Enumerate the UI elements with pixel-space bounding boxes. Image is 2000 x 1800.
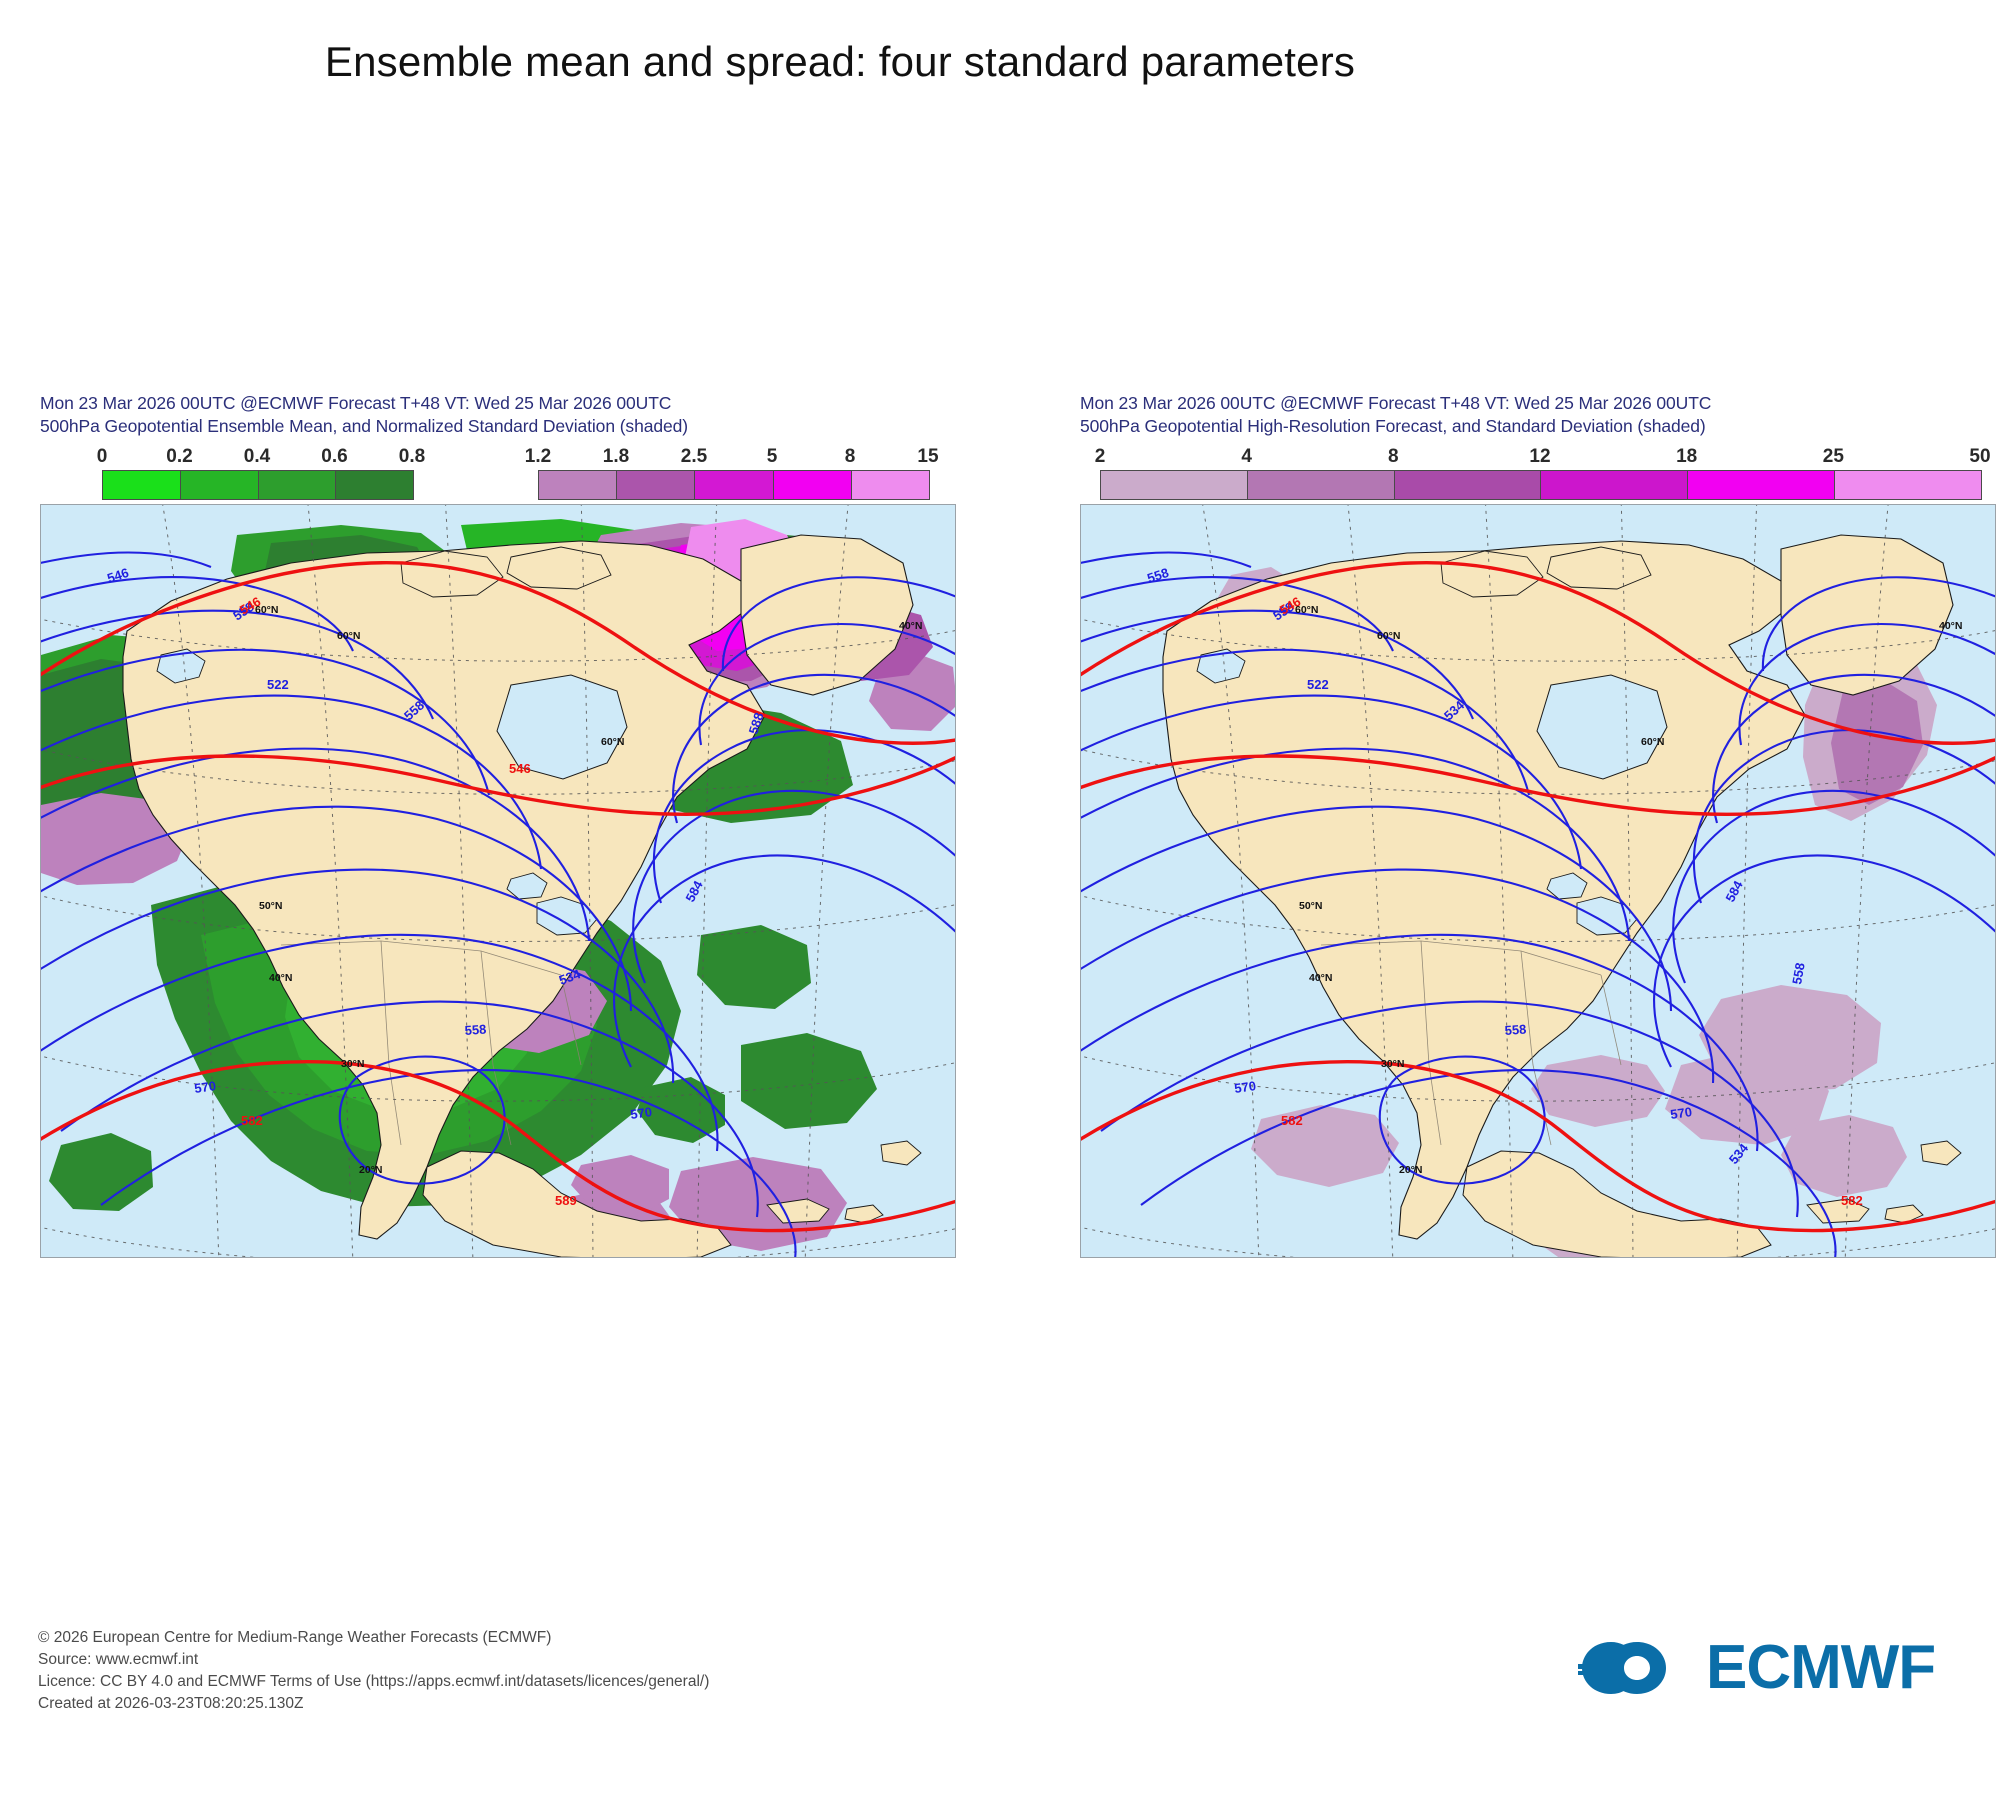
colorbar-swatch (1688, 471, 1835, 499)
footer-licence: Licence: CC BY 4.0 and ECMWF Terms of Us… (38, 1671, 709, 1693)
colorbar-tick: 0.4 (244, 446, 270, 468)
svg-text:60°N: 60°N (1377, 630, 1400, 642)
svg-text:582: 582 (1841, 1193, 1863, 1208)
panel-header-line2: 500hPa Geopotential High-Resolution Fore… (1080, 415, 2000, 438)
panel-header-line1: Mon 23 Mar 2026 00UTC @ECMWF Forecast T+… (1080, 392, 2000, 415)
colorbar-tick: 0.6 (321, 446, 347, 468)
svg-text:582: 582 (241, 1113, 263, 1128)
colorbar-tick: 8 (845, 446, 856, 468)
colorbar-tick: 2 (1095, 446, 1106, 468)
colorbar-swatch (103, 471, 181, 499)
svg-text:570: 570 (1669, 1104, 1693, 1122)
svg-text:20°N: 20°N (359, 1164, 382, 1176)
panel-ensemble-mean: Mon 23 Mar 2026 00UTC @ECMWF Forecast T+… (40, 392, 960, 1258)
colorbar-tick: 8 (1388, 446, 1399, 468)
colorbar-swatch (852, 471, 929, 499)
colorbar-swatch (1395, 471, 1542, 499)
colorbar-tick: 15 (917, 446, 938, 468)
svg-text:40°N: 40°N (269, 972, 292, 984)
panel-header-line2: 500hPa Geopotential Ensemble Mean, and N… (40, 415, 960, 438)
colorbar-tick: 2.5 (681, 446, 707, 468)
svg-text:30°N: 30°N (1381, 1058, 1404, 1070)
svg-text:589: 589 (555, 1193, 577, 1208)
footer-copyright: © 2026 European Centre for Medium-Range … (38, 1627, 709, 1649)
colorbar-swatch (1101, 471, 1248, 499)
colorbar-tick: 1.2 (525, 446, 551, 468)
colorbar-swatch (695, 471, 773, 499)
ecmwf-logo-text: ECMWF (1706, 1637, 1935, 1699)
footer: © 2026 European Centre for Medium-Range … (38, 1627, 709, 1715)
colorbar-swatch (336, 471, 413, 499)
colorbar-tick: 50 (1969, 446, 1990, 468)
colorbar-tick: 25 (1823, 446, 1844, 468)
panel-high-resolution-forecast: Mon 23 Mar 2026 00UTC @ECMWF Forecast T+… (1080, 392, 2000, 1258)
colorbar-swatch (617, 471, 695, 499)
svg-text:60°N: 60°N (601, 736, 624, 748)
colorbar-tick: 12 (1529, 446, 1550, 468)
svg-text:40°N: 40°N (1309, 972, 1332, 984)
svg-text:570: 570 (629, 1104, 653, 1122)
colorbar-group-left: 00.20.40.60.8 1.21.82.55815 (40, 446, 960, 504)
colorbar-swatch (1248, 471, 1395, 499)
svg-text:40°N: 40°N (1939, 620, 1962, 632)
map-high-resolution-forecast[interactable]: 558 558 522 534 558 570 584 558 570 534 … (1080, 504, 1996, 1258)
svg-text:570: 570 (1233, 1078, 1257, 1096)
colorbar-swatch (181, 471, 259, 499)
svg-text:60°N: 60°N (1295, 604, 1318, 616)
svg-text:50°N: 50°N (1299, 900, 1322, 912)
colorbar-swatch (774, 471, 852, 499)
colorbar-tick: 5 (767, 446, 778, 468)
svg-text:522: 522 (267, 677, 289, 692)
svg-text:20°N: 20°N (1399, 1164, 1422, 1176)
page-title: Ensemble mean and spread: four standard … (0, 38, 1680, 86)
svg-text:60°N: 60°N (337, 630, 360, 642)
colorbar-swatch (259, 471, 337, 499)
ecmwf-logo: ECMWF (1578, 1636, 1935, 1700)
svg-text:558: 558 (464, 1022, 487, 1038)
colorbar-tick: 1.8 (603, 446, 629, 468)
footer-created: Created at 2026-03-23T08:20:25.130Z (38, 1693, 709, 1715)
svg-text:558: 558 (1504, 1022, 1527, 1038)
colorbar-tick: 0 (97, 446, 108, 468)
svg-text:30°N: 30°N (341, 1058, 364, 1070)
svg-text:582: 582 (1281, 1113, 1303, 1128)
svg-text:40°N: 40°N (899, 620, 922, 632)
panel-header-line1: Mon 23 Mar 2026 00UTC @ECMWF Forecast T+… (40, 392, 960, 415)
colorbar-group-right: 24812182550 (1080, 446, 2000, 504)
footer-source: Source: www.ecmwf.int (38, 1649, 709, 1671)
colorbar-swatch (1541, 471, 1688, 499)
map-ensemble-mean[interactable]: 546 558 522 558 558 570 534 584 588 570 … (40, 504, 956, 1258)
colorbar-tick: 18 (1676, 446, 1697, 468)
colorbar-swatch (539, 471, 617, 499)
svg-text:60°N: 60°N (1641, 736, 1664, 748)
colorbar-tick: 0.2 (166, 446, 192, 468)
colorbar-tick: 4 (1241, 446, 1252, 468)
colorbar-swatch (1835, 471, 1981, 499)
ecmwf-mark-icon (1578, 1636, 1696, 1700)
colorbar-tick: 0.8 (399, 446, 425, 468)
svg-text:522: 522 (1307, 677, 1329, 692)
svg-text:546: 546 (509, 761, 531, 776)
svg-text:60°N: 60°N (255, 604, 278, 616)
svg-text:570: 570 (193, 1078, 217, 1096)
svg-text:50°N: 50°N (259, 900, 282, 912)
